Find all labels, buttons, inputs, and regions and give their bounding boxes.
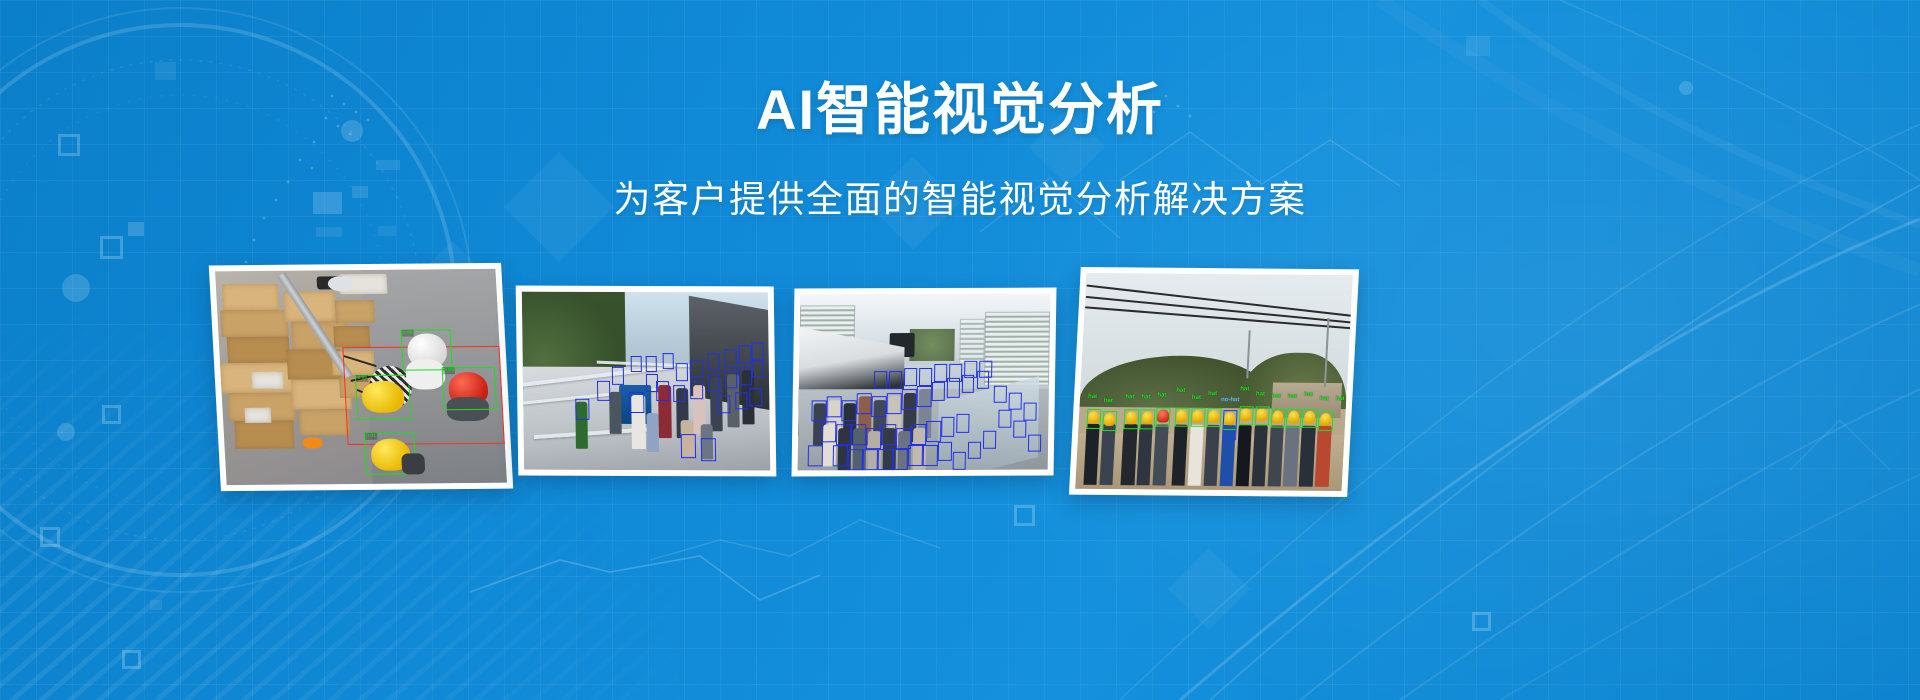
detection-label: hat	[1335, 396, 1344, 403]
page-title: AI智能视觉分析	[0, 78, 1920, 143]
detection-box	[681, 435, 696, 458]
detection-box: 0.96	[400, 329, 453, 370]
detection-box	[749, 388, 762, 406]
page-subtitle: 为客户提供全面的智能视觉分析解决方案	[0, 169, 1920, 223]
detection-label: hat	[1272, 393, 1281, 400]
detection-box	[1302, 409, 1317, 429]
detection-box	[656, 381, 670, 401]
detection-label: hat	[1304, 391, 1313, 398]
detection-label: 0.91	[365, 432, 377, 439]
warehouse-scene-image: 0.98 0.96 0.93 0.91	[215, 269, 507, 485]
photo-gallery: 0.98 0.96 0.93 0.91	[0, 252, 1920, 532]
decor-square-outline	[122, 650, 141, 669]
gallery-card-warehouse-hardhat[interactable]: 0.98 0.96 0.93 0.91	[209, 263, 514, 491]
detection-label: hat	[1104, 398, 1113, 405]
detection-box	[690, 360, 703, 378]
detection-label: hat	[1240, 387, 1249, 394]
detection-label: hat	[1192, 395, 1201, 402]
detection-label: hat	[1141, 394, 1150, 401]
detection-box	[1086, 409, 1101, 429]
detection-box	[751, 342, 764, 360]
gallery-card-bridge-crowd[interactable]	[516, 286, 777, 477]
detection-label: hat	[1157, 392, 1166, 399]
detection-label: hat	[1319, 396, 1328, 403]
detection-box	[718, 395, 731, 413]
detection-box	[701, 438, 716, 461]
detection-box	[707, 353, 720, 371]
ai-vision-banner: AI智能视觉分析 为客户提供全面的智能视觉分析解决方案	[0, 0, 1920, 700]
detection-label: hat	[1288, 393, 1297, 400]
detection-box	[597, 381, 611, 401]
headline-block: AI智能视觉分析 为客户提供全面的智能视觉分析解决方案	[0, 78, 1920, 223]
detection-box	[1190, 408, 1205, 428]
detection-box-secondary	[1222, 410, 1238, 440]
detection-box: 0.93	[442, 367, 498, 410]
detection-label: 0.96	[401, 329, 413, 336]
detection-box	[1174, 408, 1189, 428]
detection-box	[724, 349, 737, 367]
detection-box	[646, 356, 657, 372]
decor-square-outline	[1472, 612, 1491, 631]
detection-box	[1318, 411, 1333, 431]
gallery-card-construction-hardhat[interactable]: hat hat hat hat hat hat hat hat no-hat	[1069, 267, 1359, 497]
detection-box	[1254, 406, 1269, 426]
detection-box	[575, 399, 590, 420]
detection-box	[673, 385, 686, 403]
detection-box	[1238, 406, 1253, 426]
detection-box	[735, 392, 748, 410]
decor-square-filled	[1466, 36, 1490, 56]
detection-label: hat	[1208, 391, 1217, 398]
detection-label: 0.93	[443, 368, 455, 375]
detection-box	[1102, 411, 1117, 431]
detection-box	[1270, 408, 1285, 428]
detection-box	[631, 356, 642, 372]
detection-label: hat	[1256, 391, 1265, 398]
detection-label: hat	[1125, 394, 1134, 401]
detection-box	[675, 363, 688, 381]
decor-square-filled	[150, 600, 162, 610]
detection-box	[629, 392, 644, 413]
detection-box	[725, 371, 738, 389]
decor-square-filled	[316, 227, 342, 237]
detection-box	[690, 381, 703, 399]
detection-box	[1124, 409, 1139, 429]
detection-box	[1156, 407, 1171, 427]
detection-box	[739, 346, 752, 364]
detection-label: hat	[1176, 388, 1185, 395]
detection-box: 0.98	[355, 374, 411, 419]
detection-label: hat	[1088, 394, 1097, 401]
detection-box	[1286, 409, 1301, 429]
detection-box	[739, 367, 752, 385]
bridge-crowd-image	[522, 292, 771, 471]
detection-box	[707, 374, 720, 392]
detection-box	[1140, 409, 1155, 429]
detection-box	[611, 367, 624, 385]
decor-square-filled	[378, 226, 396, 236]
detection-label-secondary: no-hat	[1221, 397, 1240, 404]
detection-box	[751, 360, 764, 378]
detection-label: 0.98	[356, 375, 368, 382]
detection-box	[1206, 408, 1221, 428]
detection-box	[663, 353, 674, 369]
gallery-card-platform-crowd[interactable]	[792, 288, 1057, 477]
decor-square-filled	[128, 222, 144, 236]
construction-site-image: hat hat hat hat hat hat hat hat no-hat	[1075, 273, 1353, 491]
platform-crowd-image	[798, 294, 1051, 471]
